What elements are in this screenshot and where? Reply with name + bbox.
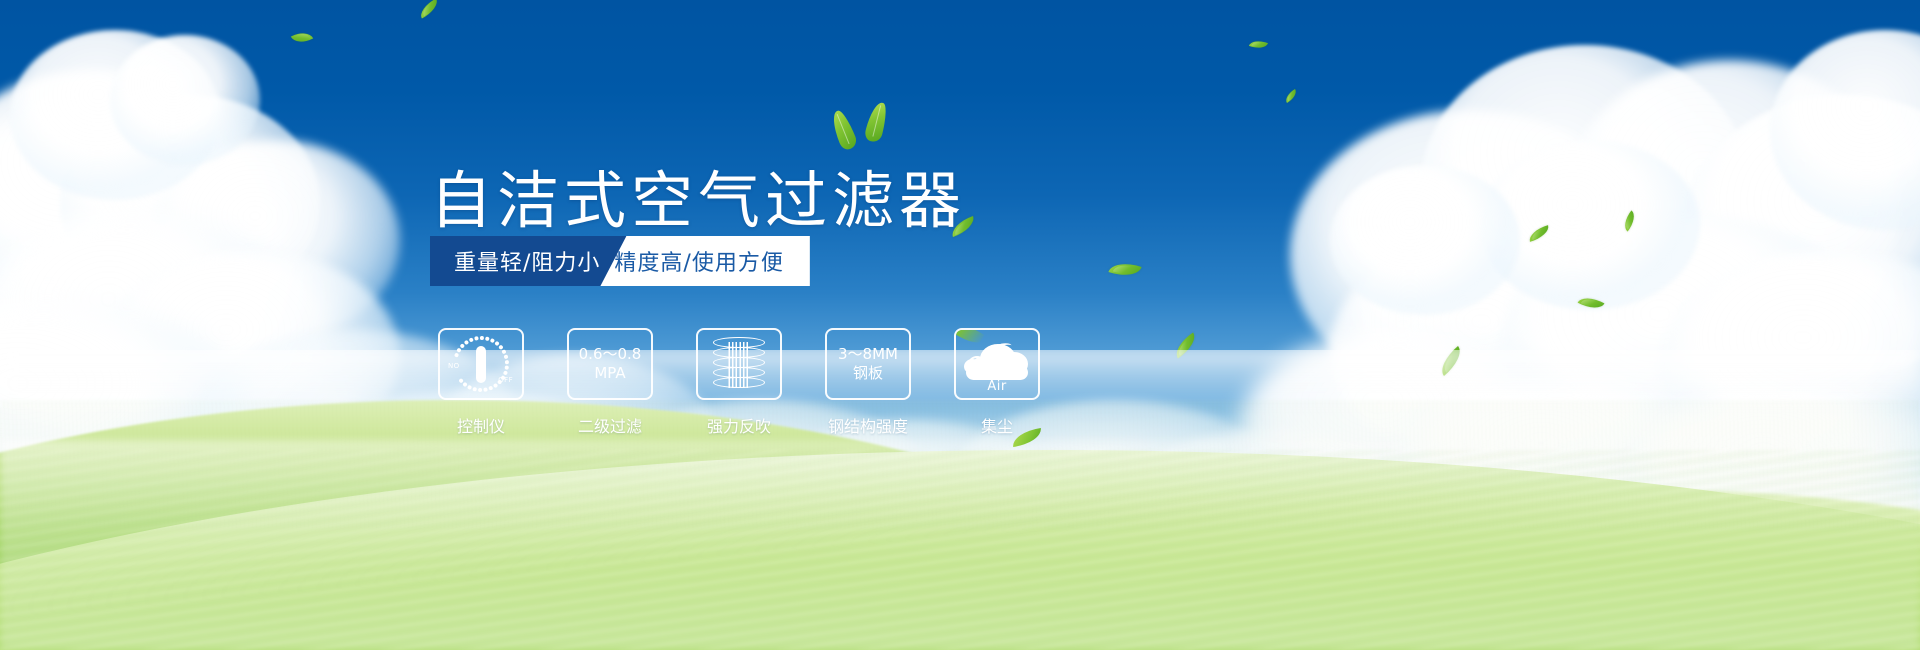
feature-label: 集尘 (981, 413, 1013, 437)
leaf-beam-icon (954, 328, 984, 347)
feature-label: 强力反吹 (707, 413, 771, 437)
pressure-value-line2: MPA (594, 364, 625, 383)
feature-label: 控制仪 (457, 413, 505, 437)
filter-cartridge-icon (711, 335, 767, 393)
leaf-vein (872, 106, 881, 137)
feature-item-secondary-filtration: 0.6～0.8 MPA 二级过滤 (567, 328, 653, 437)
feature-item-dust-collection: Air 集尘 (954, 328, 1040, 437)
leaf-vein (837, 114, 850, 144)
air-cloud-icon: Air (962, 338, 1032, 390)
feature-item-controller: NO OFF 控制仪 (438, 328, 524, 437)
feature-item-back-blow: 强力反吹 (696, 328, 782, 437)
air-label: Air (962, 379, 1032, 394)
leaf-icon (863, 101, 889, 144)
tag-precision-ease: 精度高/使用方便 (600, 236, 809, 286)
title-leaf-decoration (834, 100, 904, 148)
pressure-value-line1: 0.6～0.8 (579, 345, 642, 364)
steel-value-line2: 钢板 (853, 364, 883, 383)
feature-box: 0.6～0.8 MPA (567, 328, 653, 400)
cloud-ring-icon (968, 356, 986, 372)
banner-content: 自洁式空气过滤器 重量轻/阻力小 精度高/使用方便 (0, 0, 1920, 650)
feature-box: Air (954, 328, 1040, 400)
feature-box: NO OFF (438, 328, 524, 400)
leaf-icon (1011, 428, 1043, 447)
feature-label: 钢结构强度 (828, 413, 908, 437)
product-hero-banner: 自洁式空气过滤器 重量轻/阻力小 精度高/使用方便 (0, 0, 1920, 650)
steel-value-line1: 3～8MM (838, 345, 898, 364)
feature-box (696, 328, 782, 400)
dial-label-off: OFF (498, 376, 513, 384)
feature-label: 二级过滤 (578, 413, 642, 437)
feature-tag-group: 重量轻/阻力小 精度高/使用方便 (430, 236, 810, 286)
feature-item-steel-strength: 3～8MM 钢板 钢结构强度 (825, 328, 911, 437)
leaf-icon (828, 108, 859, 151)
dial-label-no: NO (448, 362, 460, 370)
tag-weight-resistance: 重量轻/阻力小 (430, 236, 626, 286)
feature-icon-row: NO OFF 控制仪 0.6～0.8 MPA 二级过滤 (438, 328, 1040, 437)
page-title: 自洁式空气过滤器 (430, 170, 966, 232)
feature-box: 3～8MM 钢板 (825, 328, 911, 400)
gauge-dial-icon: NO OFF (450, 337, 512, 391)
dial-needle-icon (476, 346, 486, 383)
